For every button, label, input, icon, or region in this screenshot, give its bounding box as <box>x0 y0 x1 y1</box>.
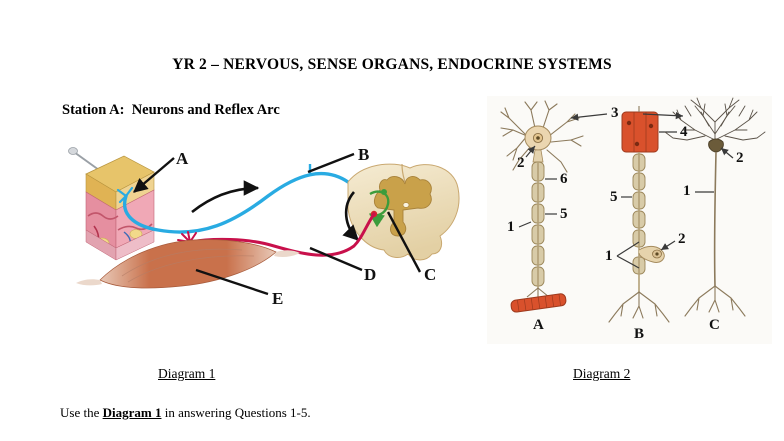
diagram2-label-b-receptor: 4 <box>680 125 688 140</box>
station-heading: Station A: Neurons and Reflex Arc <box>62 102 280 119</box>
leader-line-d <box>310 248 362 270</box>
instruction-line: Use the Diagram 1 in answering Questions… <box>60 405 311 421</box>
neuron-a-multipolar <box>501 101 583 313</box>
diagram1-label-c: C <box>424 266 436 283</box>
diagram2-label-c-soma: 2 <box>736 151 744 166</box>
leader-line-b <box>308 154 354 172</box>
diagram1-label-e: E <box>272 290 283 307</box>
diagram2-label-a-soma: 2 <box>517 156 525 171</box>
document-page: YR 2 – NERVOUS, SENSE ORGANS, ENDOCRINE … <box>0 0 784 441</box>
diagram1-label-d: D <box>364 266 376 283</box>
diagram-1-caption: Diagram 1 <box>158 366 215 382</box>
instruction-suffix: in answering Questions 1-5. <box>161 405 310 420</box>
neuron-types-illustration <box>487 96 772 344</box>
instruction-prefix: Use the <box>60 405 103 420</box>
diagram2-label-b-axon: 1 <box>605 249 613 264</box>
diagram2-label-a-axon: 1 <box>507 220 515 235</box>
leader-b-soma <box>661 241 675 250</box>
diagram2-label-a-myelin: 6 <box>560 172 568 187</box>
diagram2-label-c-axon: 1 <box>683 184 691 199</box>
diagram2-label-b-soma: 2 <box>678 232 686 247</box>
neuron-b-bipolar <box>609 106 677 322</box>
page-title: YR 2 – NERVOUS, SENSE ORGANS, ENDOCRINE … <box>0 56 784 74</box>
spinal-cord-cross-section <box>348 164 459 260</box>
diagram-1-figure: A B C D E <box>62 130 462 325</box>
diagram2-label-a-node: 5 <box>560 207 568 222</box>
leader-a-axon <box>519 222 531 227</box>
diagram2-neuron-c-caption: C <box>709 318 720 333</box>
instruction-diagram-link: Diagram 1 <box>103 405 162 420</box>
diagram2-label-3: 3 <box>611 106 619 121</box>
leader-c-soma <box>721 148 733 158</box>
reflex-arc-illustration <box>62 130 462 325</box>
diagram2-neuron-b-caption: B <box>634 327 644 342</box>
skin-receptor-block <box>69 148 155 261</box>
diagram2-neuron-a-caption: A <box>533 318 544 333</box>
diagram-2-figure: 3 2 6 5 1 4 5 1 2 2 1 A B C <box>487 96 772 344</box>
diagram1-label-a: A <box>176 150 188 167</box>
diagram-2-caption: Diagram 2 <box>573 366 630 382</box>
diagram1-label-b: B <box>358 146 369 163</box>
diagram2-label-b-node: 5 <box>610 190 618 205</box>
